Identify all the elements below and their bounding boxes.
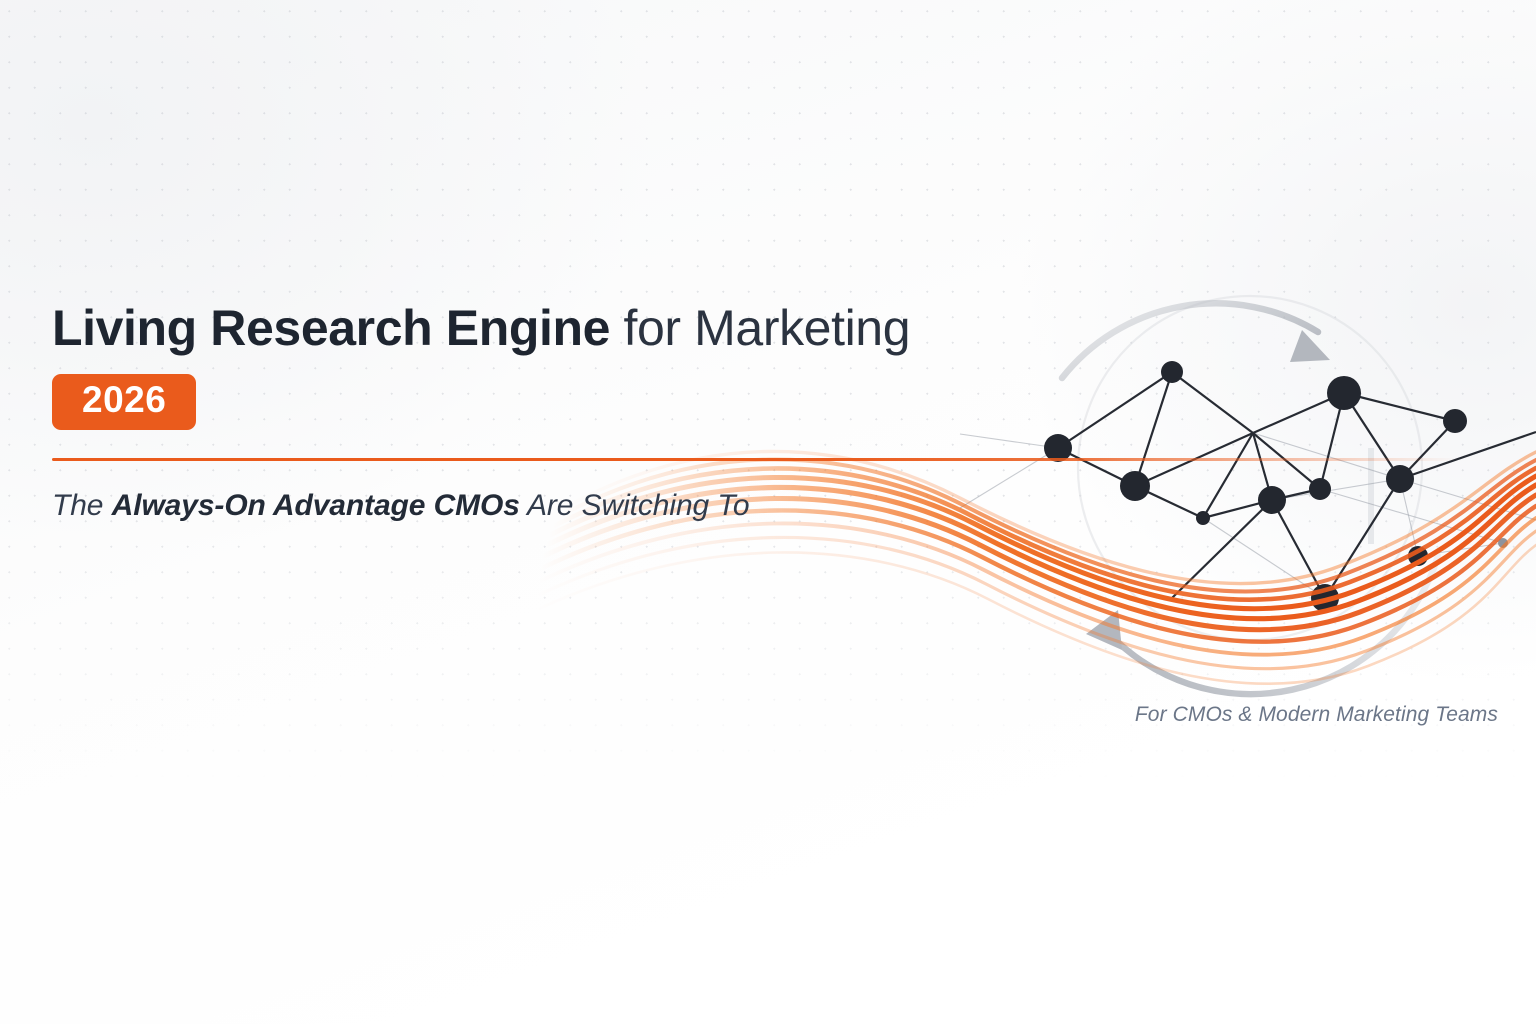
cycle-arc-bottom	[1104, 556, 1438, 694]
hero-text-block: Living Research Engine for Marketing 202…	[52, 300, 992, 523]
subtitle-prefix: The	[52, 489, 112, 522]
network-node	[1120, 471, 1150, 501]
subtitle-suffix: Are Switching To	[520, 489, 750, 522]
year-badge: 2026	[52, 374, 196, 430]
cycle-arrowhead-top	[1290, 330, 1330, 362]
network-node	[1386, 465, 1414, 493]
title-light: for Marketing	[610, 300, 910, 356]
network-node	[1443, 409, 1467, 433]
cycle-arrowhead-bottom	[1086, 610, 1122, 650]
subtitle-bold: Always-On Advantage CMOs	[112, 489, 520, 522]
network-node	[1196, 511, 1210, 525]
slide-canvas: Living Research Engine for Marketing 202…	[0, 0, 1536, 1024]
cycle-arc-top	[1062, 303, 1318, 378]
network-edges	[1058, 372, 1536, 598]
network-nodes	[1044, 361, 1508, 612]
title-strong: Living Research Engine	[52, 300, 610, 356]
network-node	[1309, 478, 1331, 500]
network-node-small	[1498, 538, 1508, 548]
network-node	[1258, 486, 1286, 514]
network-node	[1311, 584, 1339, 612]
vertical-accent-bar	[1368, 448, 1374, 544]
subtitle: The Always-On Advantage CMOs Are Switchi…	[52, 489, 992, 523]
page-title: Living Research Engine for Marketing	[52, 300, 992, 356]
accent-rule	[52, 458, 1517, 461]
network-node	[1327, 376, 1361, 410]
network-node	[1408, 546, 1428, 566]
audience-note: For CMOs & Modern Marketing Teams	[1135, 703, 1498, 727]
network-node	[1161, 361, 1183, 383]
